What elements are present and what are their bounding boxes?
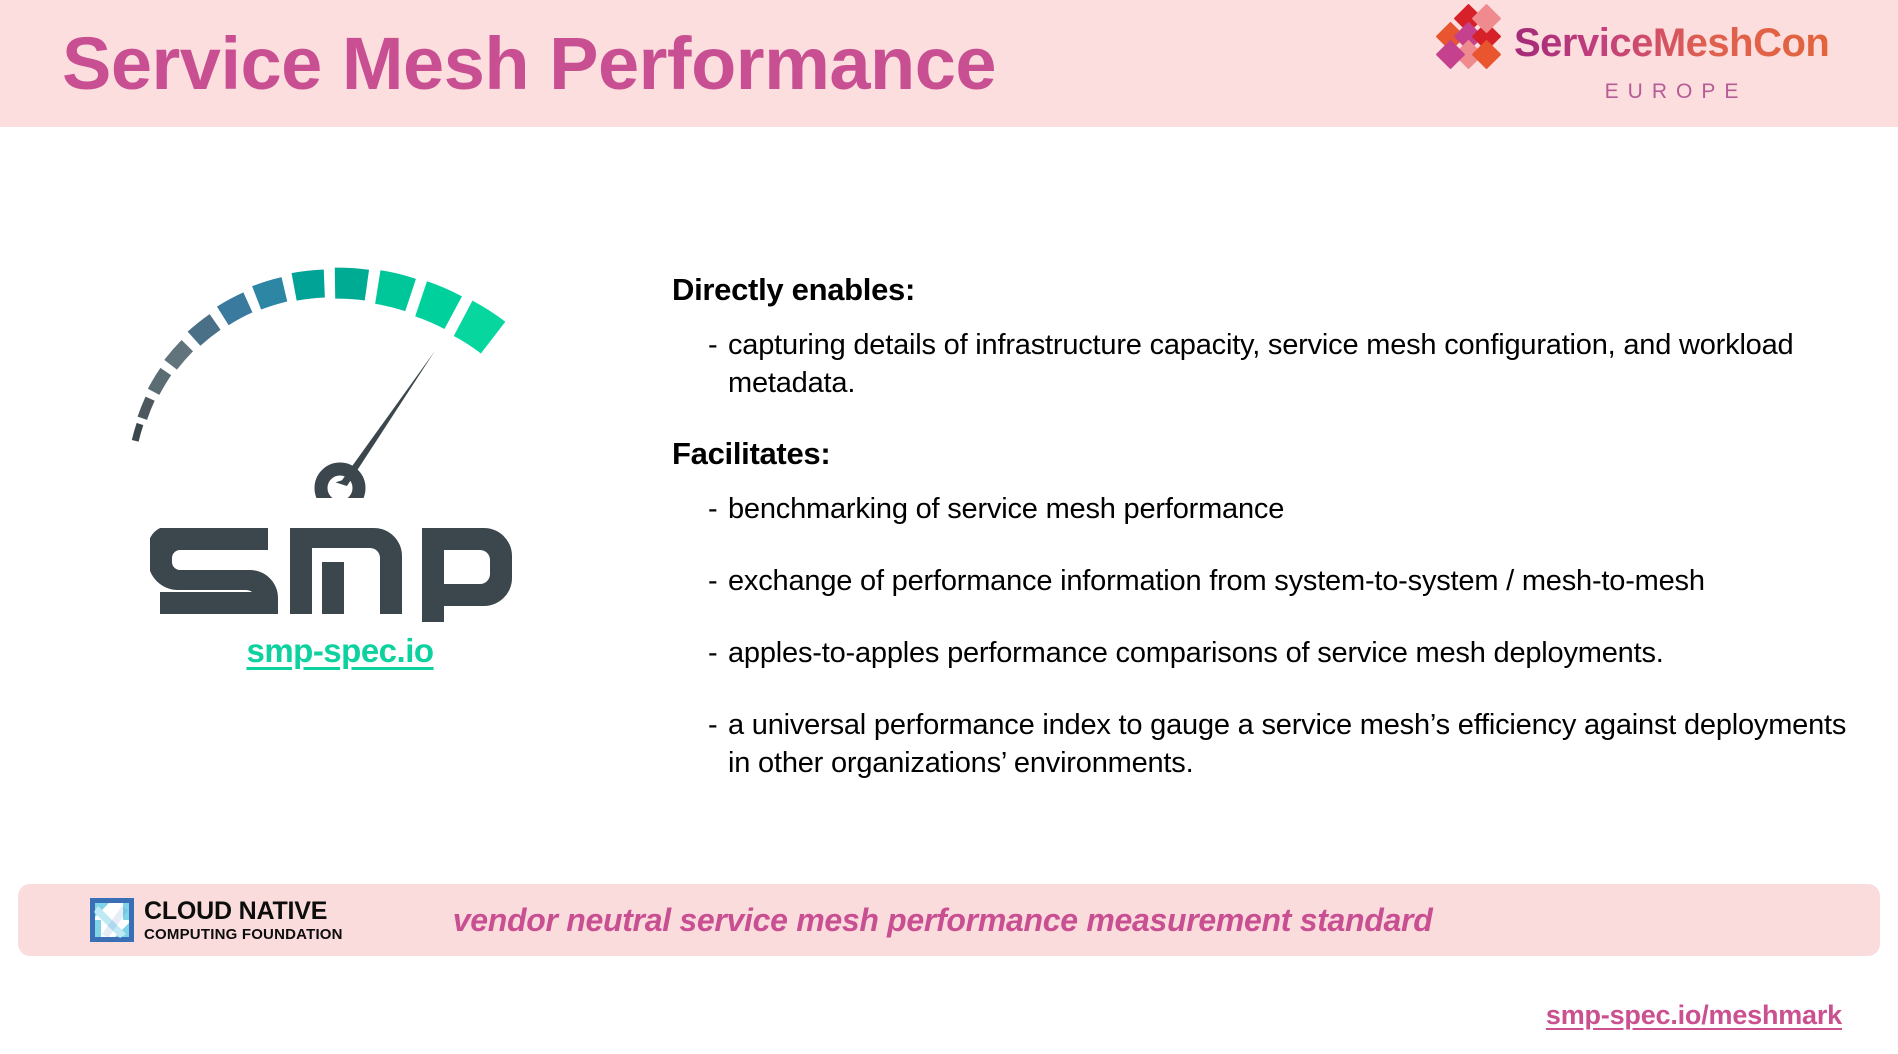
bullet-text: apples-to-apples performance comparisons… [728, 634, 1664, 672]
cncf-logo: CLOUD NATIVE COMPUTING FOUNDATION [90, 898, 343, 942]
servicemeshcon-wordmark: ServiceMeshCon [1514, 21, 1829, 66]
servicemeshcon-logo-row: ServiceMeshCon [1432, 8, 1842, 78]
cncf-line2: COMPUTING FOUNDATION [144, 927, 343, 942]
section-heading-facilitates: Facilitates: [672, 436, 1852, 472]
servicemeshcon-logo: ServiceMeshCon EUROPE [1432, 8, 1842, 116]
list-item: - benchmarking of service mesh performan… [672, 490, 1852, 528]
bullet-list-directly-enables: - capturing details of infrastructure ca… [672, 326, 1852, 402]
cncf-line1: CLOUD NATIVE [144, 899, 343, 924]
bullet-marker: - [672, 634, 728, 672]
list-item: - a universal performance index to gauge… [672, 706, 1852, 782]
smp-wordmark [150, 492, 530, 622]
bullet-marker: - [672, 562, 728, 600]
cncf-text: CLOUD NATIVE COMPUTING FOUNDATION [144, 899, 343, 942]
smp-spec-link[interactable]: smp-spec.io [60, 632, 620, 670]
footer-bar: CLOUD NATIVE COMPUTING FOUNDATION vendor… [18, 884, 1880, 956]
servicemeshcon-subtitle: EUROPE [1432, 80, 1842, 104]
bullet-text: exchange of performance information from… [728, 562, 1705, 600]
bullet-marker: - [672, 706, 728, 744]
section-heading-directly-enables: Directly enables: [672, 272, 1852, 308]
bullet-list-facilitates: - benchmarking of service mesh performan… [672, 490, 1852, 782]
servicemeshcon-diamond-icon [1432, 6, 1506, 80]
footer-tagline: vendor neutral service mesh performance … [453, 902, 1433, 939]
left-column: smp-spec.io [60, 238, 620, 670]
bullet-marker: - [672, 490, 728, 528]
list-item: - capturing details of infrastructure ca… [672, 326, 1852, 402]
list-item: - apples-to-apples performance compariso… [672, 634, 1852, 672]
bullet-text: capturing details of infrastructure capa… [728, 326, 1852, 402]
list-item: - exchange of performance information fr… [672, 562, 1852, 600]
cncf-mark-icon [90, 898, 134, 942]
content-column: Directly enables: - capturing details of… [672, 272, 1852, 804]
bullet-text: a universal performance index to gauge a… [728, 706, 1852, 782]
page-title: Service Mesh Performance [62, 14, 996, 114]
meshmark-link[interactable]: smp-spec.io/meshmark [1546, 1000, 1842, 1031]
bullet-marker: - [672, 326, 728, 364]
bullet-text: benchmarking of service mesh performance [728, 490, 1284, 528]
speedometer-gauge-icon [80, 238, 600, 498]
